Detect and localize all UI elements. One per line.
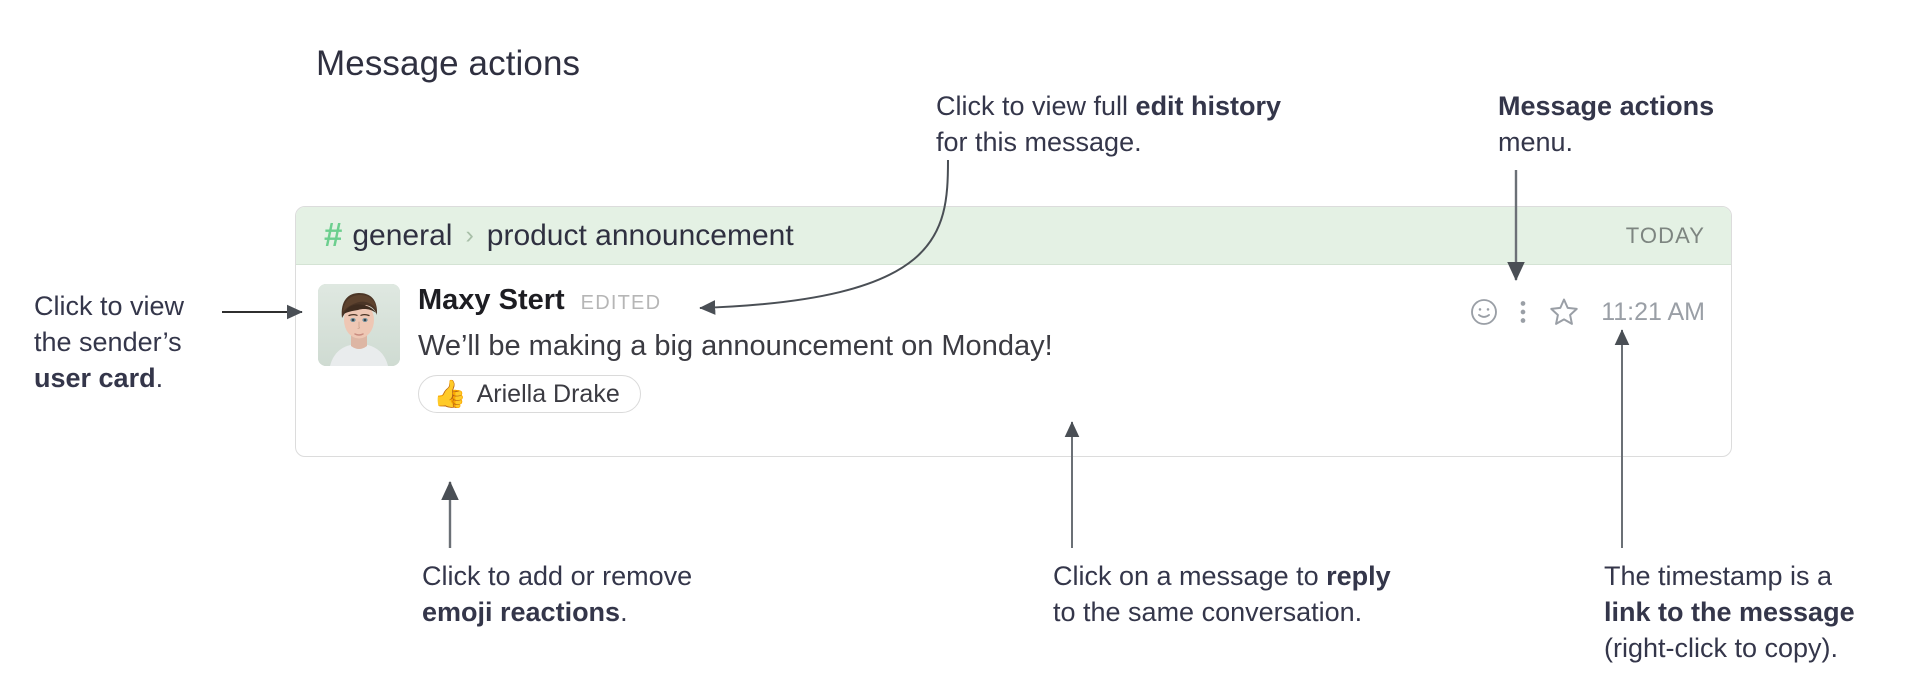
annotation-reply-line1-pre: Click on a message to [1053, 561, 1326, 591]
message-card: # general › product announcement TODAY [295, 206, 1732, 457]
message-actions: 11:21 AM [1463, 291, 1705, 333]
annotation-emoji-line2-bold: emoji reactions [422, 597, 620, 627]
annotation-reply-line2: to the same conversation. [1053, 597, 1362, 627]
smiley-icon[interactable] [1463, 291, 1505, 333]
annotation-actions-menu: Message actionsmenu. [1498, 88, 1798, 160]
annotation-actions-menu-line1-bold: Message actions [1498, 91, 1714, 121]
annotation-emoji-reactions: Click to add or removeemoji reactions. [422, 558, 782, 630]
thumbs-up-icon: 👍 [433, 381, 467, 408]
channel-topic[interactable]: product announcement [487, 219, 794, 253]
annotation-actions-menu-line2: menu. [1498, 127, 1573, 157]
annotation-timestamp-line3: (right-click to copy). [1604, 633, 1838, 663]
reactions-row: 👍 Ariella Drake [418, 375, 1705, 413]
annotation-emoji-line1: Click to add or remove [422, 561, 692, 591]
annotation-user-card: Click to viewthe sender’suser card. [34, 288, 244, 396]
timestamp-link[interactable]: 11:21 AM [1601, 298, 1705, 327]
message-text[interactable]: We’ll be making a big announcement on Mo… [418, 330, 1705, 363]
sender-name[interactable]: Maxy Stert [418, 284, 565, 317]
edited-badge[interactable]: EDITED [581, 292, 662, 315]
channel-header: # general › product announcement TODAY [296, 207, 1731, 265]
star-icon[interactable] [1541, 291, 1587, 333]
annotation-timestamp-line1: The timestamp is a [1604, 561, 1832, 591]
annotation-reply: Click on a message to replyto the same c… [1053, 558, 1453, 630]
avatar[interactable] [318, 284, 400, 366]
chevron-right-icon: › [465, 223, 473, 248]
annotation-user-card-line2: the sender’s [34, 327, 182, 357]
annotation-emoji-line2-post: . [620, 597, 628, 627]
page-title: Message actions [316, 44, 580, 84]
hash-icon: # [324, 218, 342, 251]
annotation-user-card-line3-bold: user card [34, 363, 156, 393]
annotation-user-card-line3-post: . [156, 363, 164, 393]
channel-name[interactable]: general [352, 219, 452, 253]
message-row[interactable]: Maxy Stert EDITED We’ll be making a big … [296, 265, 1731, 413]
annotation-timestamp: The timestamp is alink to the message(ri… [1604, 558, 1914, 666]
annotation-timestamp-line2-bold: link to the message [1604, 597, 1855, 627]
annotation-reply-line1-bold: reply [1326, 561, 1391, 591]
annotation-user-card-line1: Click to view [34, 291, 184, 321]
vertical-dots-icon[interactable] [1505, 291, 1541, 333]
annotation-edit-history-line1-bold: edit history [1136, 91, 1282, 121]
reaction-pill[interactable]: 👍 Ariella Drake [418, 375, 641, 413]
annotation-edit-history: Click to view full edit historyfor this … [936, 88, 1366, 160]
annotation-edit-history-line1-pre: Click to view full [936, 91, 1136, 121]
reaction-label: Ariella Drake [477, 380, 620, 409]
annotation-edit-history-line2: for this message. [936, 127, 1142, 157]
date-label: TODAY [1626, 223, 1705, 249]
